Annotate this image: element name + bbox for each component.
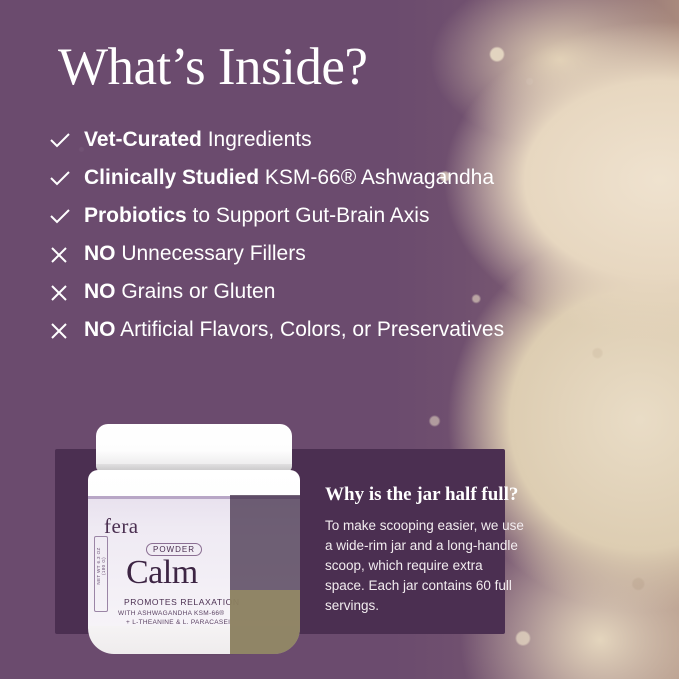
- list-item-rest: Unnecessary Fillers: [116, 242, 306, 265]
- list-item: Probiotics to Support Gut-Brain Axis: [46, 201, 646, 230]
- product-infographic: What’s Inside? Vet-Curated Ingredients C…: [0, 0, 679, 679]
- list-item-rest: KSM-66® Ashwagandha: [259, 166, 494, 189]
- list-item-bold: Vet-Curated: [84, 128, 202, 151]
- cross-icon: [46, 315, 84, 339]
- brand-logo: fera: [104, 514, 139, 539]
- product-jar: NET WT 6.3 OZ (180 G) fera POWDER Calm P…: [88, 424, 300, 654]
- list-item: NO Artificial Flavors, Colors, or Preser…: [46, 315, 646, 344]
- product-ingredient-line-1: WITH ASHWAGANDHA KSM-66®: [118, 610, 224, 617]
- list-item-bold: NO: [84, 318, 116, 341]
- check-icon: [46, 125, 84, 149]
- list-item-text: NO Grains or Gluten: [84, 277, 275, 306]
- cross-icon: [46, 277, 84, 301]
- info-card-title: Why is the jar half full?: [325, 484, 530, 506]
- list-item-text: NO Artificial Flavors, Colors, or Preser…: [84, 315, 504, 344]
- list-item-text: NO Unnecessary Fillers: [84, 239, 306, 268]
- list-item-text: Clinically Studied KSM-66® Ashwagandha: [84, 163, 494, 192]
- list-item: NO Unnecessary Fillers: [46, 239, 646, 268]
- label-net-weight: NET WT 6.3 OZ (180 G): [96, 546, 106, 586]
- list-item-bold: NO: [84, 280, 116, 303]
- jar-lid: [96, 424, 292, 472]
- list-item-rest: Ingredients: [202, 128, 312, 151]
- product-ingredient-line-2: + L-THEANINE & L. PARACASEI: [126, 619, 230, 626]
- check-icon: [46, 201, 84, 225]
- list-item-rest: Grains or Gluten: [116, 280, 276, 303]
- info-card-content: Why is the jar half full? To make scoopi…: [325, 484, 530, 616]
- list-item-text: Probiotics to Support Gut-Brain Axis: [84, 201, 429, 230]
- list-item-bold: Probiotics: [84, 204, 187, 227]
- cross-icon: [46, 239, 84, 263]
- benefits-list: Vet-Curated Ingredients Clinically Studi…: [46, 125, 646, 353]
- page-title: What’s Inside?: [58, 38, 367, 96]
- product-claim: PROMOTES RELAXATION: [124, 597, 240, 607]
- label-side-strip: NET WT 6.3 OZ (180 G): [94, 536, 108, 612]
- list-item: NO Grains or Gluten: [46, 277, 646, 306]
- jar-body: NET WT 6.3 OZ (180 G) fera POWDER Calm P…: [88, 470, 300, 654]
- list-item-text: Vet-Curated Ingredients: [84, 125, 312, 154]
- list-item: Clinically Studied KSM-66® Ashwagandha: [46, 163, 646, 192]
- info-card-body: To make scooping easier, we use a wide-r…: [325, 516, 525, 616]
- check-icon: [46, 163, 84, 187]
- list-item-bold: NO: [84, 242, 116, 265]
- list-item-bold: Clinically Studied: [84, 166, 259, 189]
- list-item: Vet-Curated Ingredients: [46, 125, 646, 154]
- list-item-rest: to Support Gut-Brain Axis: [187, 204, 430, 227]
- jar-fill-level: [230, 590, 300, 654]
- product-name: Calm: [126, 554, 198, 592]
- list-item-rest: Artificial Flavors, Colors, or Preservat…: [116, 318, 505, 341]
